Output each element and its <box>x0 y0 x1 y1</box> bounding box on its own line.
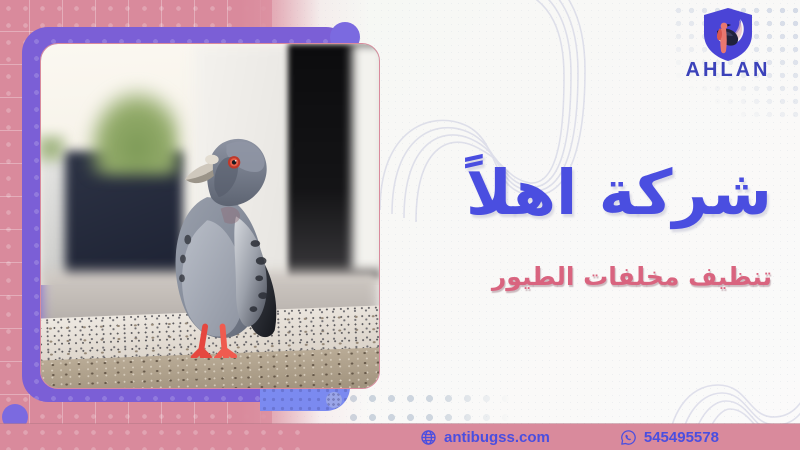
promotional-banner: شركة اهلاً تنظيف مخلفات الطيور AHLAN <box>0 0 800 450</box>
photo-layer-small-plant <box>40 133 68 164</box>
brand-logo[interactable]: AHLAN <box>672 6 784 90</box>
whatsapp-icon <box>620 429 637 446</box>
footer-bar: antibugss.com 545495578 <box>0 424 800 450</box>
page-subtitle: تنظيف مخلفات الطيور <box>332 262 772 291</box>
brand-name: AHLAN <box>672 59 784 82</box>
page-title: شركة اهلاً <box>332 160 772 226</box>
frame-accent-knob <box>326 392 342 408</box>
photo-layer-right-edge <box>352 44 380 271</box>
footer-phone[interactable]: 545495578 <box>620 429 719 446</box>
globe-icon <box>420 429 437 446</box>
footer-phone-label: 545495578 <box>644 429 719 446</box>
footer-website[interactable]: antibugss.com <box>420 429 550 446</box>
footer-contact-group: antibugss.com 545495578 <box>0 424 800 450</box>
pigeon-subject <box>153 116 288 364</box>
pigeon-photo <box>40 43 380 389</box>
shield-bird-icon <box>700 6 756 62</box>
pigeon-photo-canvas <box>41 44 379 388</box>
pigeon-illustration <box>153 116 288 357</box>
footer-website-label: antibugss.com <box>444 429 550 446</box>
